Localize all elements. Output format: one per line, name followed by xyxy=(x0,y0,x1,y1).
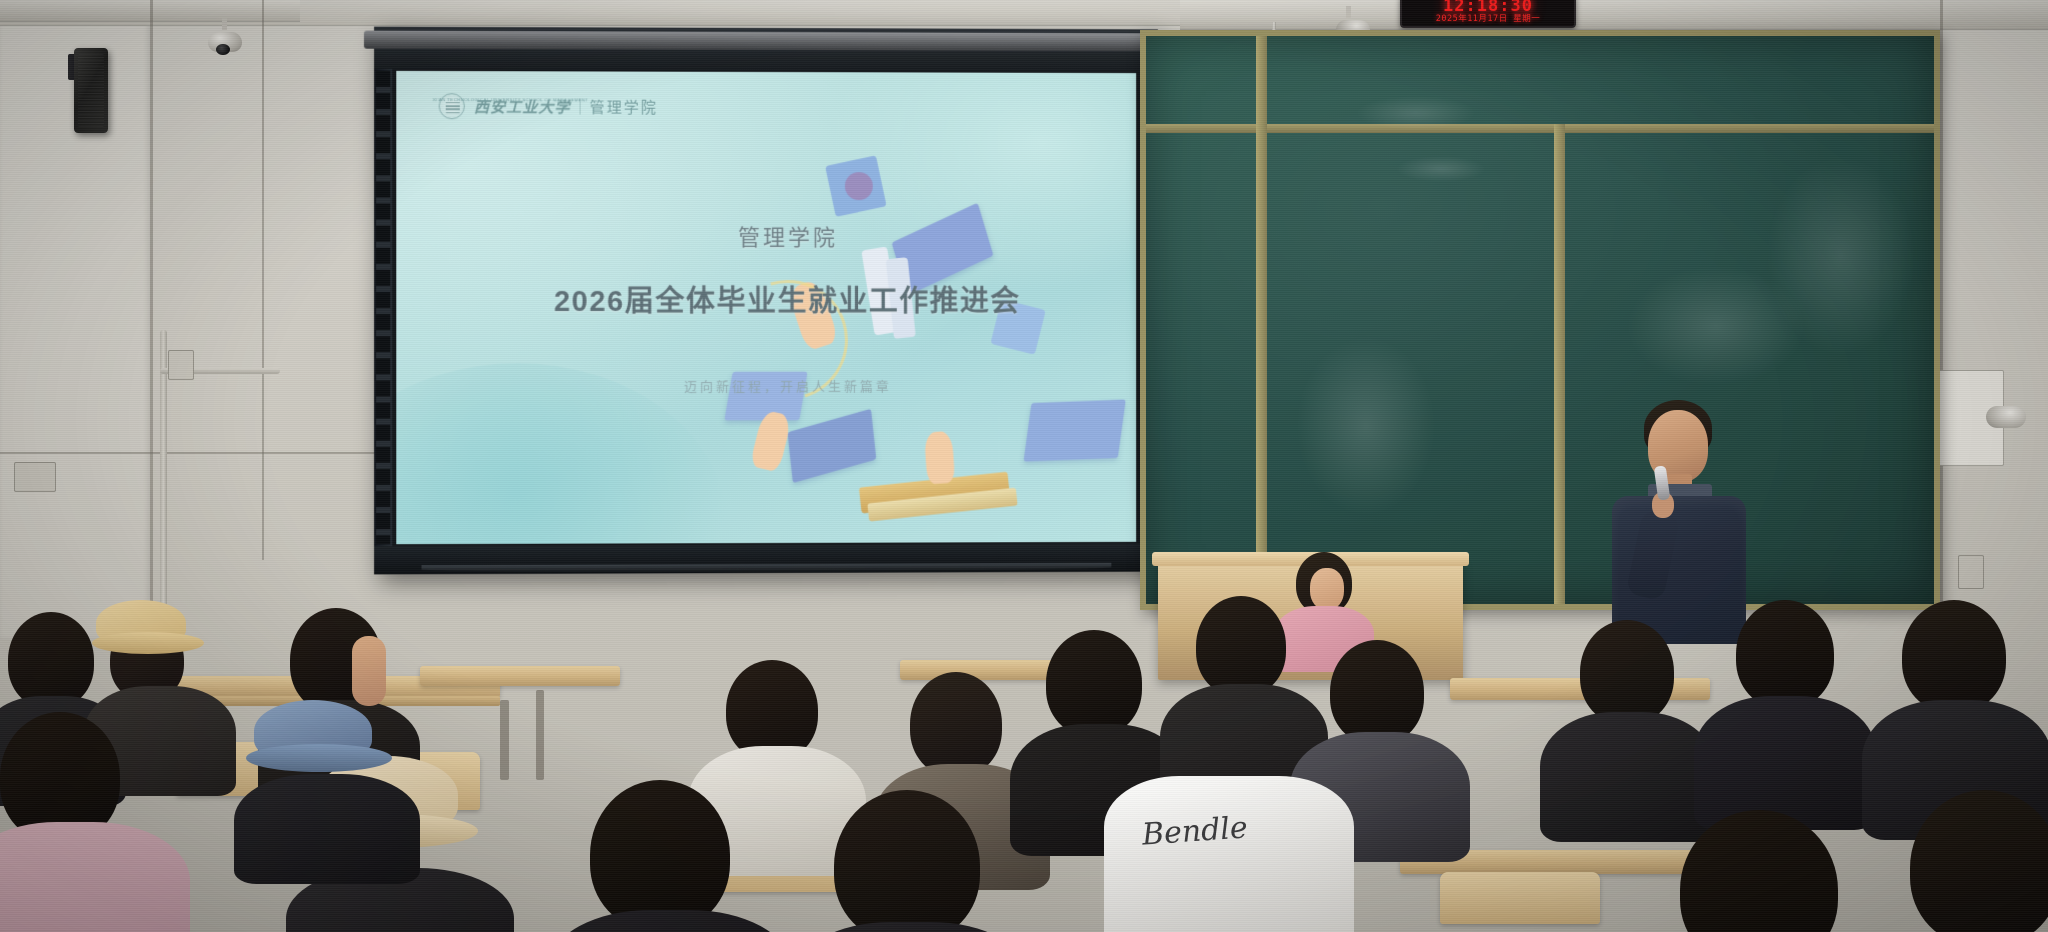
student-head xyxy=(8,612,94,708)
student-head xyxy=(1330,640,1424,744)
camera-lens-icon xyxy=(216,44,230,55)
student-foreground xyxy=(560,780,780,932)
hat-brim xyxy=(92,632,204,654)
student-head xyxy=(1910,790,2048,932)
chalk-smudge xyxy=(1766,156,1916,356)
screen-bottom-bar xyxy=(374,544,1158,575)
camera-dome-icon xyxy=(208,32,242,52)
slide-subheading: 管理学院 xyxy=(738,220,838,252)
student-head xyxy=(910,672,1002,776)
student-head xyxy=(1680,810,1838,932)
student-head xyxy=(590,780,730,930)
ceiling-rail-right xyxy=(1180,0,2048,30)
chalkboard-divider-vertical-1 xyxy=(1256,36,1267,604)
hoodie-brand-text: Bendle xyxy=(1141,810,1249,852)
student-foreground xyxy=(1880,790,2048,932)
student-head xyxy=(1196,596,1286,696)
student-torso xyxy=(234,774,420,884)
student-head xyxy=(1580,620,1674,724)
student-foreground xyxy=(1640,810,1880,932)
student-raising-hand xyxy=(352,636,392,706)
student-foreground xyxy=(800,790,1020,932)
screen-tension-tabs xyxy=(376,71,390,544)
chalkboard xyxy=(1140,30,1940,610)
student-torso xyxy=(792,922,1030,932)
wall-speaker xyxy=(74,48,108,133)
chair-back xyxy=(1440,872,1600,924)
wall-pipe-vertical xyxy=(160,330,167,630)
student-hoodie: Bendle xyxy=(1104,752,1364,932)
desk-leg xyxy=(500,700,509,780)
student-torso xyxy=(550,910,790,932)
wall-seam-1 xyxy=(150,0,153,640)
camera-mount xyxy=(1346,6,1351,18)
student-head xyxy=(1902,600,2006,712)
student-head xyxy=(834,790,980,932)
slide-tagline: 迈向新征程，开启人生新篇章 xyxy=(684,376,892,395)
student-head xyxy=(1046,630,1142,736)
wall-junction-box xyxy=(168,350,194,380)
wall-seam-3 xyxy=(0,452,380,454)
student-foreground xyxy=(0,712,190,932)
student-head xyxy=(726,660,818,760)
student-foreground-blue-cap xyxy=(246,700,406,850)
student-arm xyxy=(352,636,386,706)
projection-screen: 西安工业大学 管理学院 XI'AN TECHNOLOGICAL UNIVERSI… xyxy=(374,27,1158,575)
camera-dome-icon xyxy=(1986,406,2026,428)
led-clock-date: 2025年11月17日 星期一 xyxy=(1436,14,1541,24)
student xyxy=(1548,620,1708,830)
hoodie-body xyxy=(1104,776,1354,932)
camera-mount xyxy=(222,18,227,30)
slide-text-block: 管理学院 2026届全体毕业生就业工作推进会 迈向新征程，开启人生新篇章 xyxy=(396,71,1136,544)
chalkboard-divider-vertical-2 xyxy=(1554,124,1565,604)
wall-seam-2 xyxy=(262,0,264,560)
wall-seam-4 xyxy=(1940,0,1943,640)
led-clock: 12:18:30 2025年11月17日 星期一 xyxy=(1400,0,1576,28)
student-head xyxy=(1736,600,1834,708)
classroom-photo: 12:18:30 2025年11月17日 星期一 xyxy=(0,0,2048,932)
cap-brim xyxy=(246,744,392,772)
wall-outlet[interactable] xyxy=(1958,555,1984,589)
light-switch-panel[interactable] xyxy=(14,462,56,492)
cctv-camera-far-right xyxy=(1980,400,2026,426)
screen-roller xyxy=(364,31,1168,52)
led-clock-time: 12:18:30 xyxy=(1443,0,1533,14)
student-torso xyxy=(0,822,190,932)
chalk-smudge xyxy=(1396,156,1486,182)
chalk-smudge xyxy=(1296,336,1436,516)
chalk-smudge xyxy=(1626,266,1806,386)
slide-headline: 2026届全体毕业生就业工作推进会 xyxy=(554,278,1021,320)
desk-row xyxy=(420,666,620,686)
desk-leg xyxy=(536,690,544,780)
student xyxy=(1700,600,1870,820)
cctv-camera-left xyxy=(208,26,242,48)
presentation-slide: 西安工业大学 管理学院 XI'AN TECHNOLOGICAL UNIVERSI… xyxy=(396,71,1136,544)
